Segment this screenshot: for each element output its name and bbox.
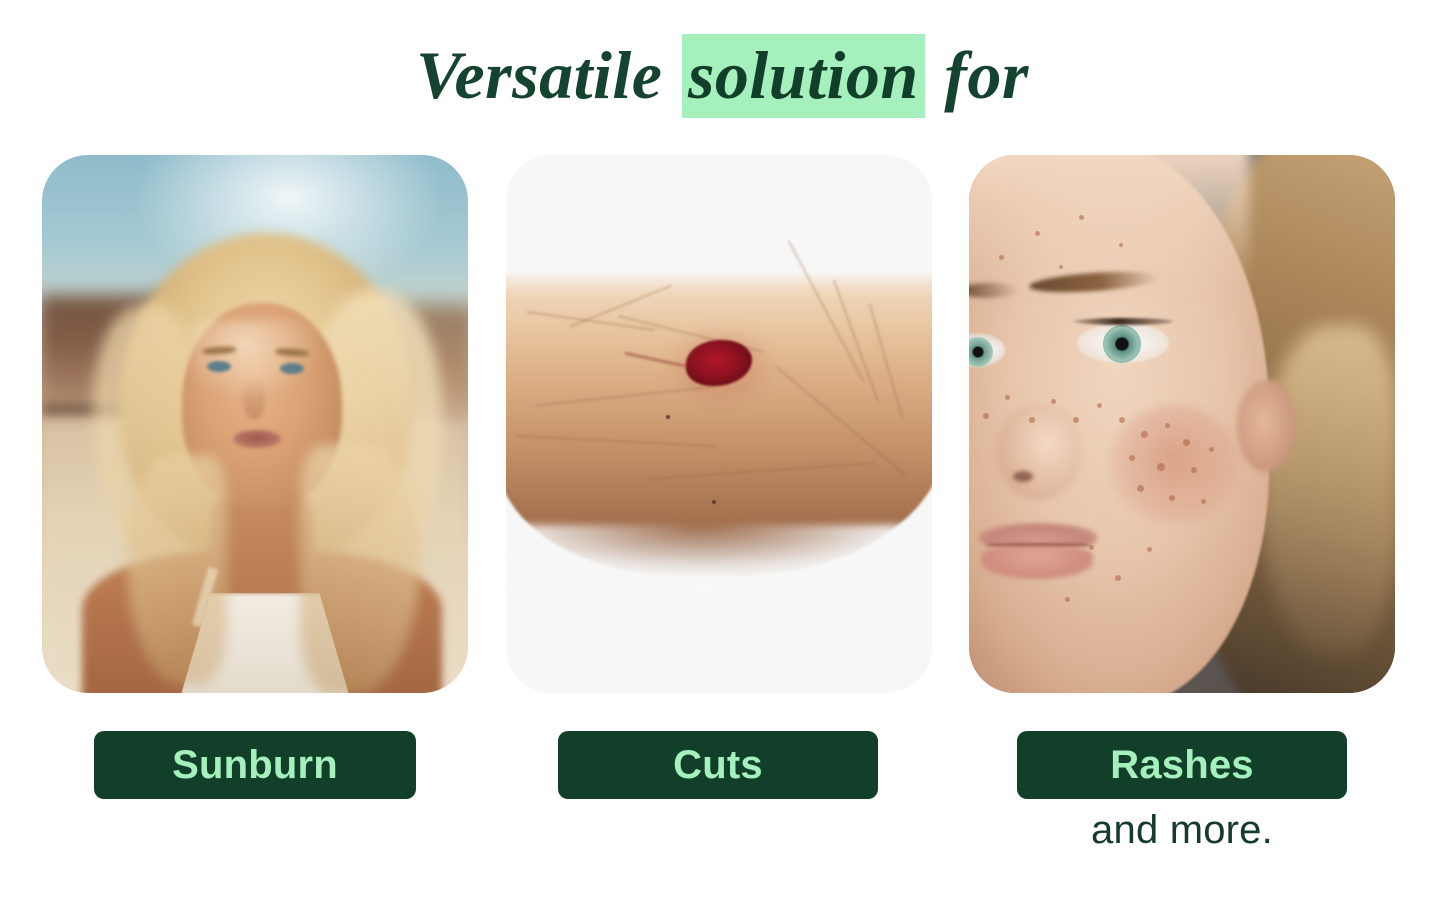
label-column-cuts: Cuts	[505, 731, 931, 799]
freckle	[1129, 455, 1135, 461]
label-pill-sunburn[interactable]: Sunburn	[94, 731, 416, 799]
card-image-sunburn	[42, 155, 468, 693]
freckle	[1201, 499, 1206, 504]
title-word-before: Versatile	[416, 34, 662, 116]
cheek-rash	[1109, 405, 1239, 525]
freckle	[1169, 495, 1175, 501]
card-image-rashes	[969, 155, 1395, 693]
freckle	[1097, 403, 1102, 408]
freckle	[999, 255, 1004, 260]
freckle	[1165, 423, 1170, 428]
skin-speck	[666, 415, 670, 419]
freckle	[1119, 243, 1123, 247]
card-image-row	[42, 155, 1395, 693]
title-word-highlighted: solution	[682, 34, 925, 118]
freckle	[1157, 463, 1165, 471]
freckle	[1059, 265, 1063, 269]
card-label-row: Sunburn Cuts Rashes and more.	[0, 731, 1445, 891]
nose	[243, 377, 265, 419]
eye-right	[280, 363, 304, 374]
card-image-cuts	[506, 155, 932, 693]
forearm-bottom-fade	[506, 525, 932, 595]
face-photo	[969, 155, 1395, 693]
freckle	[1141, 431, 1148, 438]
freckle	[1005, 395, 1010, 400]
cut-photo	[506, 155, 932, 693]
freckle	[1089, 545, 1094, 550]
freckle	[1115, 575, 1121, 581]
forearm-top-fade	[506, 267, 932, 307]
and-more-note: and more.	[968, 805, 1396, 855]
marketing-infographic: Versatile solution for	[0, 0, 1445, 904]
nostril	[1013, 471, 1033, 482]
skin-speck	[712, 500, 716, 504]
nose	[997, 405, 1081, 500]
ear	[1237, 380, 1295, 472]
freckle	[1065, 597, 1070, 602]
freckle	[1119, 417, 1125, 423]
eyelash-right	[1073, 318, 1173, 325]
sunburn-photo	[42, 155, 468, 693]
freckle	[983, 413, 989, 419]
label-pill-cuts[interactable]: Cuts	[558, 731, 878, 799]
hair-highlight	[1259, 325, 1395, 655]
lower-lip	[981, 547, 1093, 579]
freckle	[1183, 439, 1190, 446]
freckle	[1209, 447, 1214, 452]
freckle	[1137, 485, 1144, 492]
freckle	[1035, 231, 1040, 236]
iris-right	[1103, 325, 1141, 363]
label-column-rashes: Rashes and more.	[968, 731, 1396, 855]
freckle	[1191, 467, 1197, 473]
freckle	[1029, 417, 1035, 423]
freckle	[1051, 399, 1056, 404]
eye-left	[207, 361, 231, 372]
freckle	[1147, 547, 1152, 552]
mouth	[233, 430, 281, 448]
label-column-sunburn: Sunburn	[42, 731, 468, 799]
title-word-after: for	[944, 34, 1029, 116]
freckle	[1073, 417, 1079, 423]
freckle	[1079, 215, 1084, 220]
label-pill-rashes[interactable]: Rashes	[1017, 731, 1347, 799]
page-title: Versatile solution for	[0, 34, 1445, 118]
